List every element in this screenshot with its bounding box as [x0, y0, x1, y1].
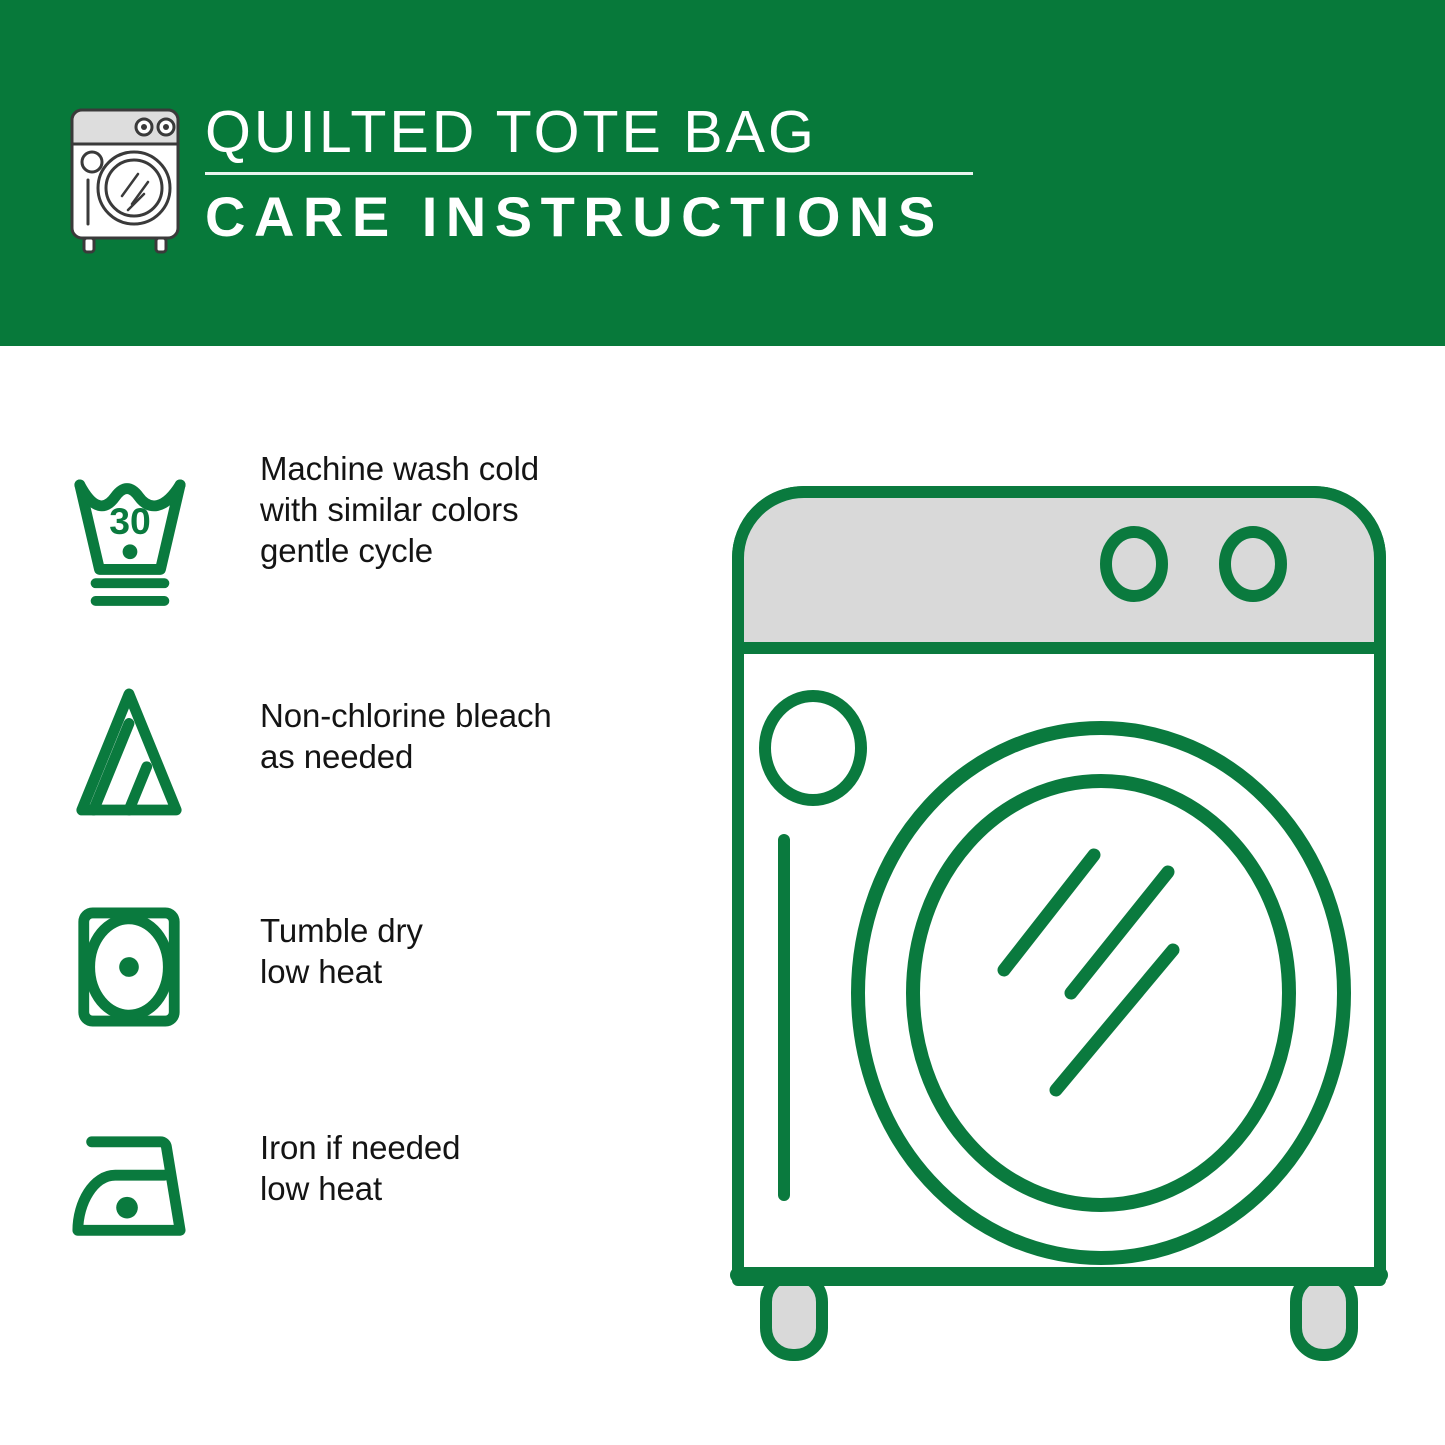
care-row-machine-wash: 30 Machine wash cold with similar colors…: [0, 440, 700, 655]
tumble-dry-icon: [70, 892, 188, 1042]
header-text-block: QUILTED TOTE BAG CARE INSTRUCTIONS: [205, 96, 995, 249]
care-row-tumble-dry: Tumble dry low heat: [0, 870, 700, 1085]
care-label-line: Iron if needed: [260, 1127, 460, 1168]
care-label-line: with similar colors: [260, 489, 539, 530]
header-banner: QUILTED TOTE BAG CARE INSTRUCTIONS: [0, 0, 1445, 346]
door-inner-ring: [913, 781, 1289, 1205]
washing-machine-icon: [66, 104, 184, 254]
care-label-line: gentle cycle: [260, 530, 539, 571]
page-subtitle: CARE INSTRUCTIONS: [205, 185, 995, 249]
care-instruction-list: 30 Machine wash cold with similar colors…: [0, 440, 700, 1300]
front-load-washing-machine-illustration: [726, 480, 1406, 1370]
leg-right: [1296, 1275, 1352, 1355]
care-label-line: Machine wash cold: [260, 448, 539, 489]
control-knob-right: [1225, 532, 1281, 596]
leg-left: [766, 1275, 822, 1355]
care-label-line: Non-chlorine bleach: [260, 695, 552, 736]
care-label-tumble-dry: Tumble dry low heat: [260, 870, 423, 992]
page-title: QUILTED TOTE BAG: [205, 96, 995, 168]
title-divider: [205, 172, 973, 175]
wash-tub-30-icon: 30: [70, 462, 188, 612]
care-instructions-page: QUILTED TOTE BAG CARE INSTRUCTIONS 30: [0, 0, 1445, 1445]
care-row-iron: Iron if needed low heat: [0, 1085, 700, 1300]
care-label-line: low heat: [260, 951, 423, 992]
care-label-machine-wash: Machine wash cold with similar colors ge…: [260, 440, 539, 571]
detergent-port: [765, 696, 861, 800]
care-label-line: low heat: [260, 1168, 460, 1209]
iron-icon: [70, 1113, 188, 1263]
care-row-bleach: Non-chlorine bleach as needed: [0, 655, 700, 870]
wash-temperature-value: 30: [109, 500, 151, 542]
control-knob-left: [1106, 532, 1162, 596]
bleach-triangle-icon: [70, 677, 188, 827]
care-label-line: Tumble dry: [260, 910, 423, 951]
care-label-iron: Iron if needed low heat: [260, 1085, 460, 1209]
care-label-bleach: Non-chlorine bleach as needed: [260, 655, 552, 777]
care-label-line: as needed: [260, 736, 552, 777]
